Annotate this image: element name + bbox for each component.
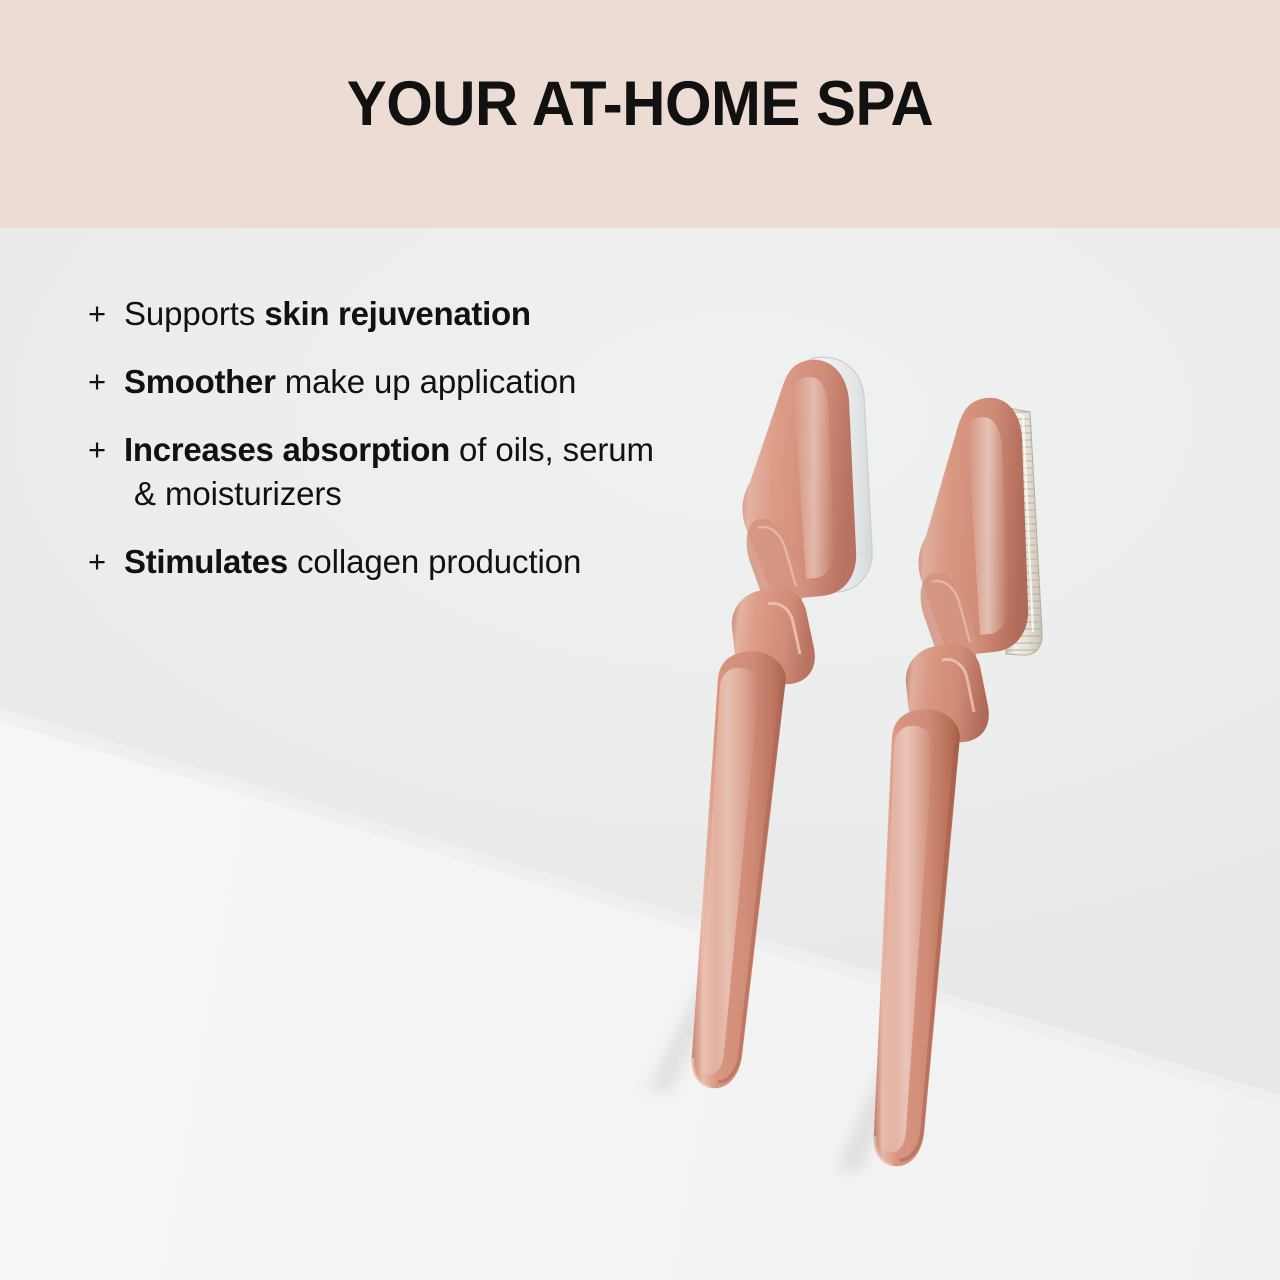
benefit-prefix: Supports [124,295,264,332]
plus-icon: + [88,360,124,404]
benefit-item-increases-absorption: + Increases absorption of oils, serum& m… [88,428,748,516]
benefit-text: Stimulates collagen production [124,540,748,584]
header-banner: YOUR AT-HOME SPA [0,0,1280,228]
benefit-item-skin-rejuvenation: + Supports skin rejuvenation [88,292,748,336]
benefit-text: Supports skin rejuvenation [124,292,748,336]
benefit-suffix: make up application [276,363,577,400]
plus-icon: + [88,540,124,584]
benefit-text: Increases absorption of oils, serum& moi… [124,428,748,516]
plus-icon: + [88,292,124,336]
product-feature-image: YOUR AT-HOME SPA + Supports skin rejuven… [0,0,1280,1280]
benefit-suffix: collagen production [288,543,581,580]
plus-icon: + [88,428,124,472]
benefit-emphasis: skin rejuvenation [264,295,530,332]
benefit-item-stimulates-collagen: + Stimulates collagen production [88,540,748,584]
benefit-emphasis: Smoother [124,363,276,400]
product-razor-right [890,392,1070,1172]
benefit-text: Smoother make up application [124,360,748,404]
page-title: YOUR AT-HOME SPA [32,68,1248,140]
benefit-item-smoother-makeup: + Smoother make up application [88,360,748,404]
benefit-emphasis: Increases absorption [124,431,450,468]
benefits-list: + Supports skin rejuvenation + Smoother … [88,292,748,608]
benefit-emphasis: Stimulates [124,543,288,580]
benefit-wrap-line: & moisturizers [124,472,748,516]
benefit-suffix: of oils, serum [450,431,654,468]
